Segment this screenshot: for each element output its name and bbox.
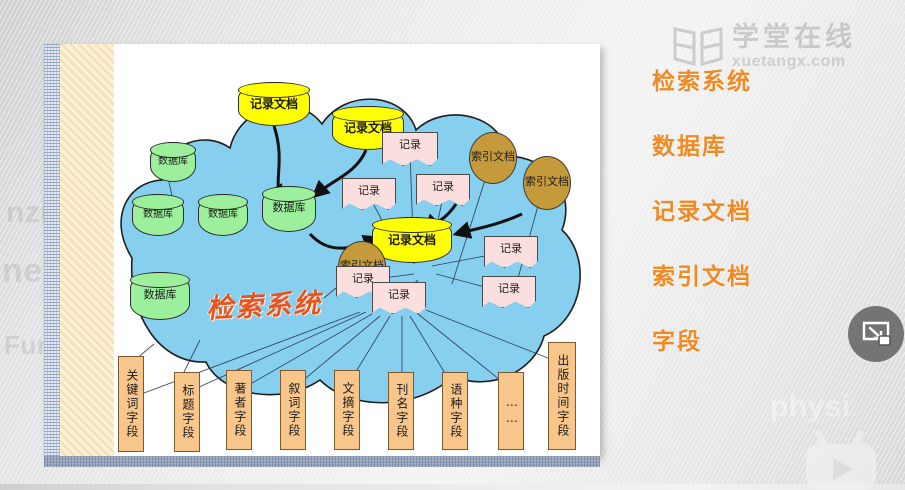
field-box-publish-date: 出版时间字段 [548, 342, 576, 450]
watermark-en-text: xuetangx.com [732, 53, 856, 71]
field-box-title: 标题字段 [174, 372, 200, 452]
picture-in-picture-button[interactable] [848, 306, 904, 362]
index-document-ellipse: 索引文档 [469, 132, 517, 184]
ghost-text-3: physi [770, 390, 851, 424]
database-cylinder: 数据库 [132, 194, 184, 236]
field-box-ellipsis: …… [498, 372, 524, 450]
ghost-text-1: ne [2, 252, 43, 291]
index-document-ellipse: 索引文档 [523, 156, 571, 210]
database-cylinder: 数据库 [198, 194, 248, 236]
xuetangx-watermark: 学堂在线 xuetangx.com [672, 24, 856, 71]
record-document-cylinder: 记录文档 [238, 82, 310, 126]
field-box-author: 著者字段 [226, 370, 252, 450]
slide-bottom-dotted-border [44, 456, 600, 467]
bilibili-tv-logo-icon [800, 430, 886, 490]
key-item-index-document: 索引文档 [652, 257, 882, 291]
field-box-language: 语种字段 [442, 372, 468, 450]
watermark-cn-text: 学堂在线 [732, 24, 856, 51]
field-box-journal: 刊名字段 [388, 372, 414, 450]
field-box-abstract: 文摘字段 [334, 370, 360, 450]
slide-left-accent-band [60, 44, 114, 456]
database-cylinder: 数据库 [130, 272, 190, 320]
picture-in-picture-icon [861, 319, 891, 349]
slide-left-dotted-border [44, 44, 60, 456]
field-box-keyword: 关键词字段 [118, 356, 144, 452]
cloud-title-label: 检索系统 [205, 281, 323, 326]
database-cylinder: 数据库 [262, 186, 316, 232]
ghost-text-0: nzi [6, 196, 49, 230]
database-cylinder: 数据库 [150, 142, 196, 182]
field-box-descriptor: 叙词字段 [280, 370, 306, 450]
key-item-database: 数据库 [652, 127, 882, 161]
diagram-canvas: 检索系统 数据库 数据库 数据库 数据库 数据库 记录文档 记录文档 记录文档 … [114, 44, 600, 456]
key-item-record-document: 记录文档 [652, 192, 882, 226]
presentation-slide: 检索系统 数据库 数据库 数据库 数据库 数据库 记录文档 记录文档 记录文档 … [44, 44, 600, 456]
open-book-logo-icon [672, 24, 724, 68]
